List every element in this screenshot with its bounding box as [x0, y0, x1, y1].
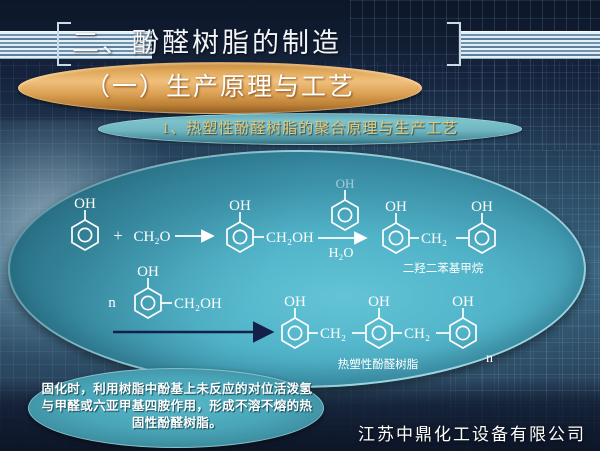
label-oh-1: OH	[74, 196, 96, 212]
product-name-novolac: 热塑性酚醛树脂	[338, 357, 419, 371]
coefficient-n: n	[108, 295, 116, 311]
benzene-ring-phenol-2	[332, 190, 358, 230]
plus-sign-1: +	[113, 226, 123, 245]
benzene-ring-intermediate	[227, 212, 264, 252]
group-ch2oh-2: CH₂OH	[174, 296, 222, 312]
benzene-ring-product-left	[383, 213, 419, 253]
label-oh-6: OH	[137, 264, 159, 280]
label-oh-8: OH	[368, 294, 390, 310]
benzene-ring-product-right	[469, 213, 495, 253]
group-ch2oh-1: CH₂OH	[266, 230, 314, 246]
curing-description-text: 固化时，利用树脂中酚基上未反应的对位活泼氢与甲醛或六亚甲基四胺作用，形成不溶不熔…	[40, 381, 314, 432]
label-oh-2: OH	[229, 198, 251, 214]
formula-formaldehyde: CH₂O	[134, 229, 171, 245]
benzene-ring-polymer-1	[282, 308, 318, 348]
label-oh-4: OH	[385, 199, 407, 215]
bridge-ch2-1: CH₂	[421, 231, 447, 247]
company-watermark: 江苏中鼎化工设备有限公司	[358, 420, 586, 445]
benzene-ring-polymer-3	[450, 308, 476, 348]
benzene-ring-polymer-2	[366, 308, 402, 348]
label-oh-5: OH	[471, 199, 493, 215]
label-oh-3: OH	[336, 176, 355, 191]
label-oh-9: OH	[452, 294, 474, 310]
label-water-byproduct: H₂O	[328, 246, 353, 261]
product-name-dihydroxydiphenylmethane: 二羟二苯基甲烷	[403, 261, 484, 275]
polymer-subscript-n: n	[486, 351, 493, 366]
benzene-ring-monomer	[135, 278, 172, 318]
benzene-ring-phenol-1	[72, 210, 98, 250]
bridge-ch2-3: CH₂	[404, 326, 430, 342]
presentation-slide: 二、酚醛树脂的制造 （一）生产原理与工艺 1、热塑性酚醛树脂的聚合原理与生产工艺…	[0, 0, 600, 451]
label-oh-7: OH	[284, 294, 306, 310]
bridge-ch2-2: CH₂	[320, 326, 346, 342]
